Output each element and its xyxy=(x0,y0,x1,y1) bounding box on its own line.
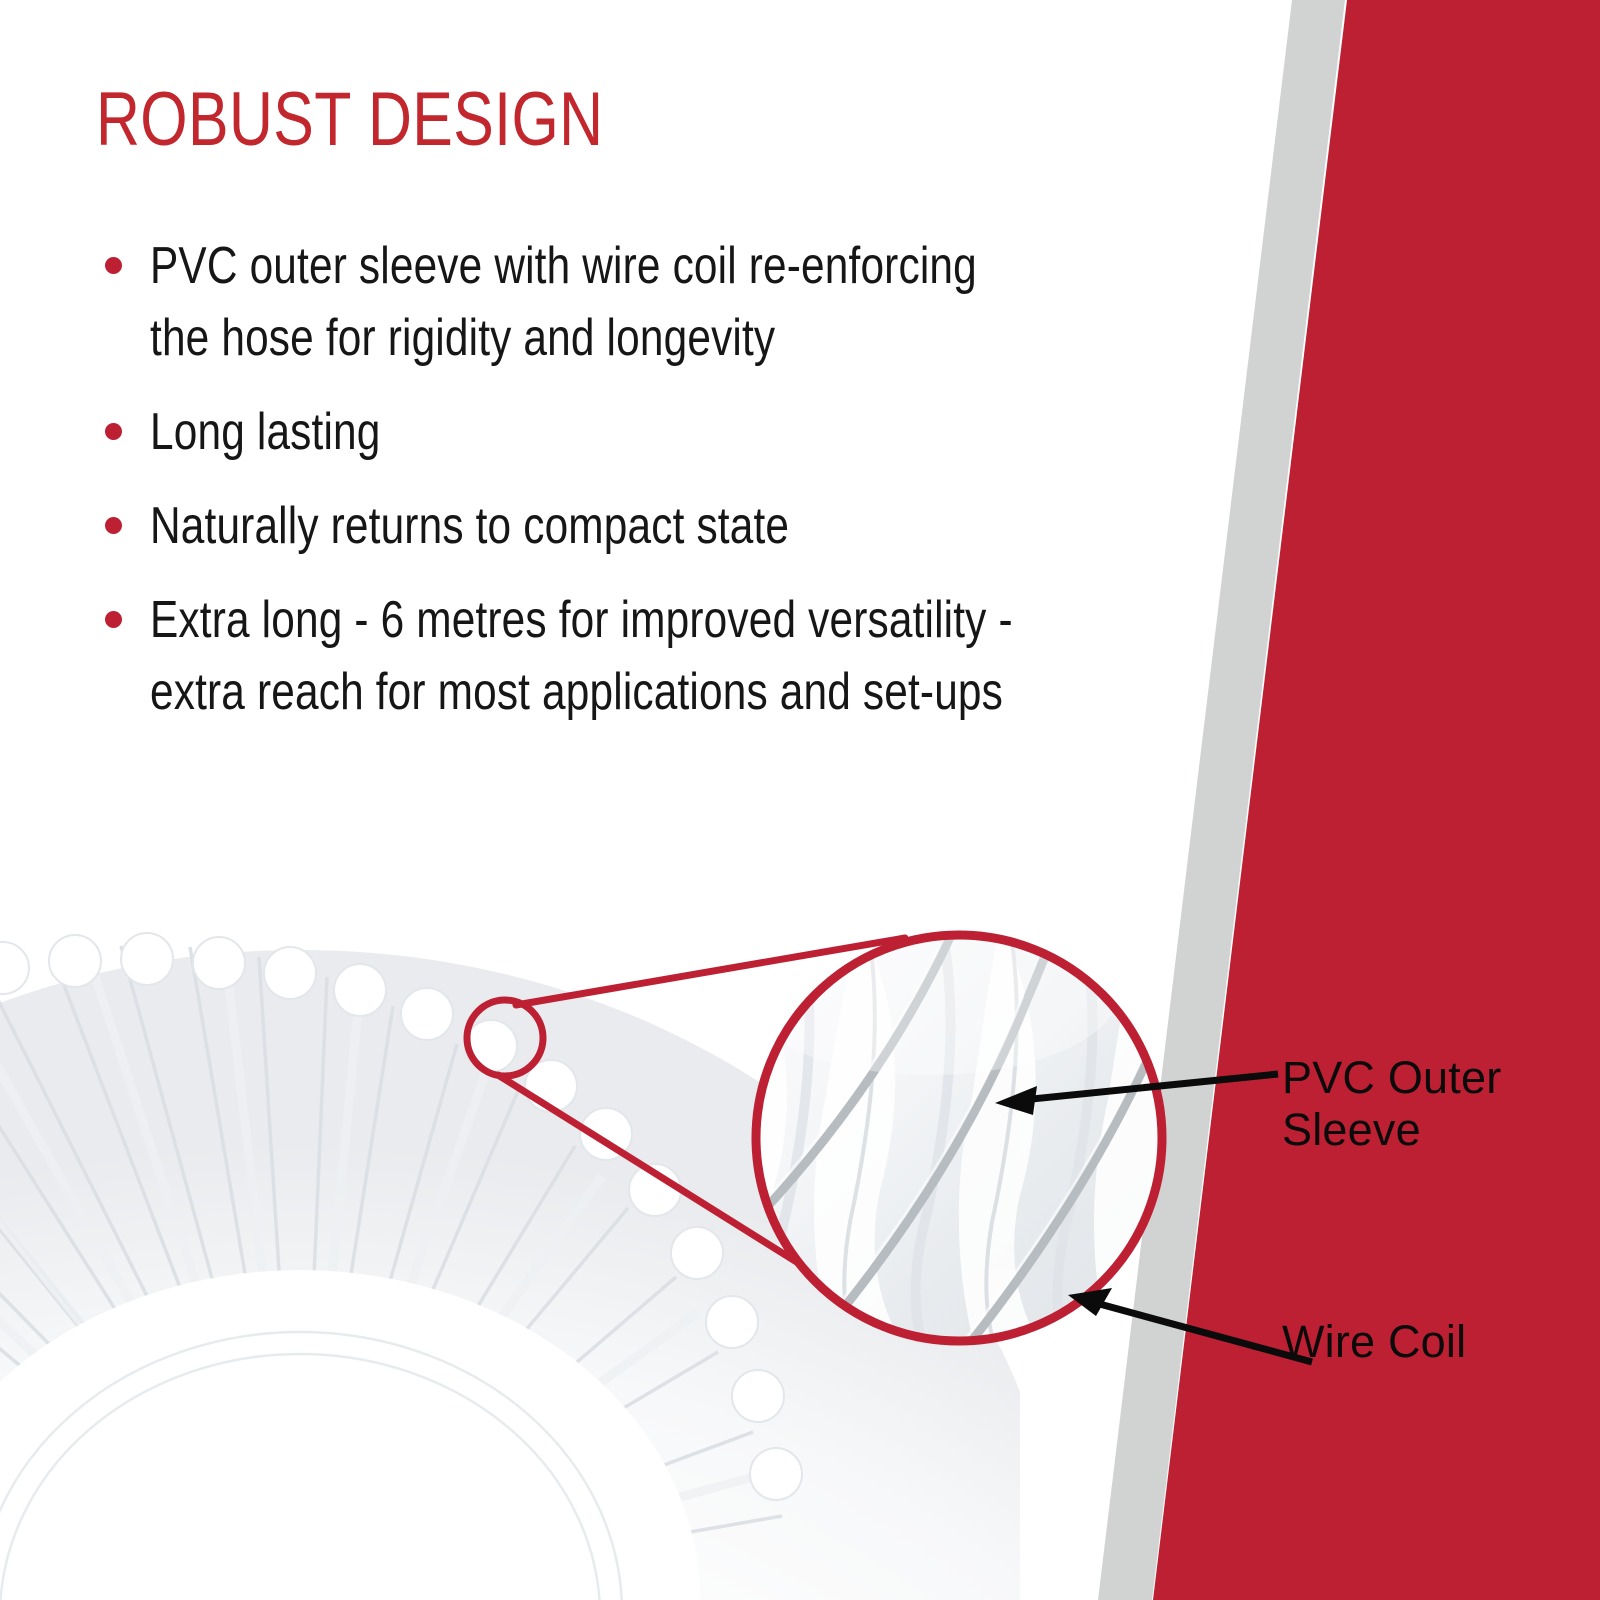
bullet-dot-icon xyxy=(105,257,122,274)
list-item: Extra long - 6 metres for improved versa… xyxy=(96,584,1036,728)
callout-label-wire-coil: Wire Coil xyxy=(1282,1316,1466,1368)
feature-text: PVC outer sleeve with wire coil re-enfor… xyxy=(150,230,1031,374)
list-item: Naturally returns to compact state xyxy=(96,490,1036,562)
page-title: ROBUST DESIGN xyxy=(96,78,603,162)
list-item: Long lasting xyxy=(96,396,1036,468)
bullet-dot-icon xyxy=(105,611,122,628)
infographic-canvas: ROBUST DESIGN PVC outer sleeve with wire… xyxy=(0,0,1600,1600)
bullet-dot-icon xyxy=(105,517,122,534)
feature-text: Naturally returns to compact state xyxy=(150,490,1031,562)
feature-text: Extra long - 6 metres for improved versa… xyxy=(150,584,1031,728)
feature-list: PVC outer sleeve with wire coil re-enfor… xyxy=(96,230,1036,728)
feature-text: Long lasting xyxy=(150,396,1031,468)
list-item: PVC outer sleeve with wire coil re-enfor… xyxy=(96,230,1036,374)
callout-label-pvc-outer-sleeve: PVC Outer Sleeve xyxy=(1282,1052,1501,1156)
bullet-dot-icon xyxy=(105,423,122,440)
